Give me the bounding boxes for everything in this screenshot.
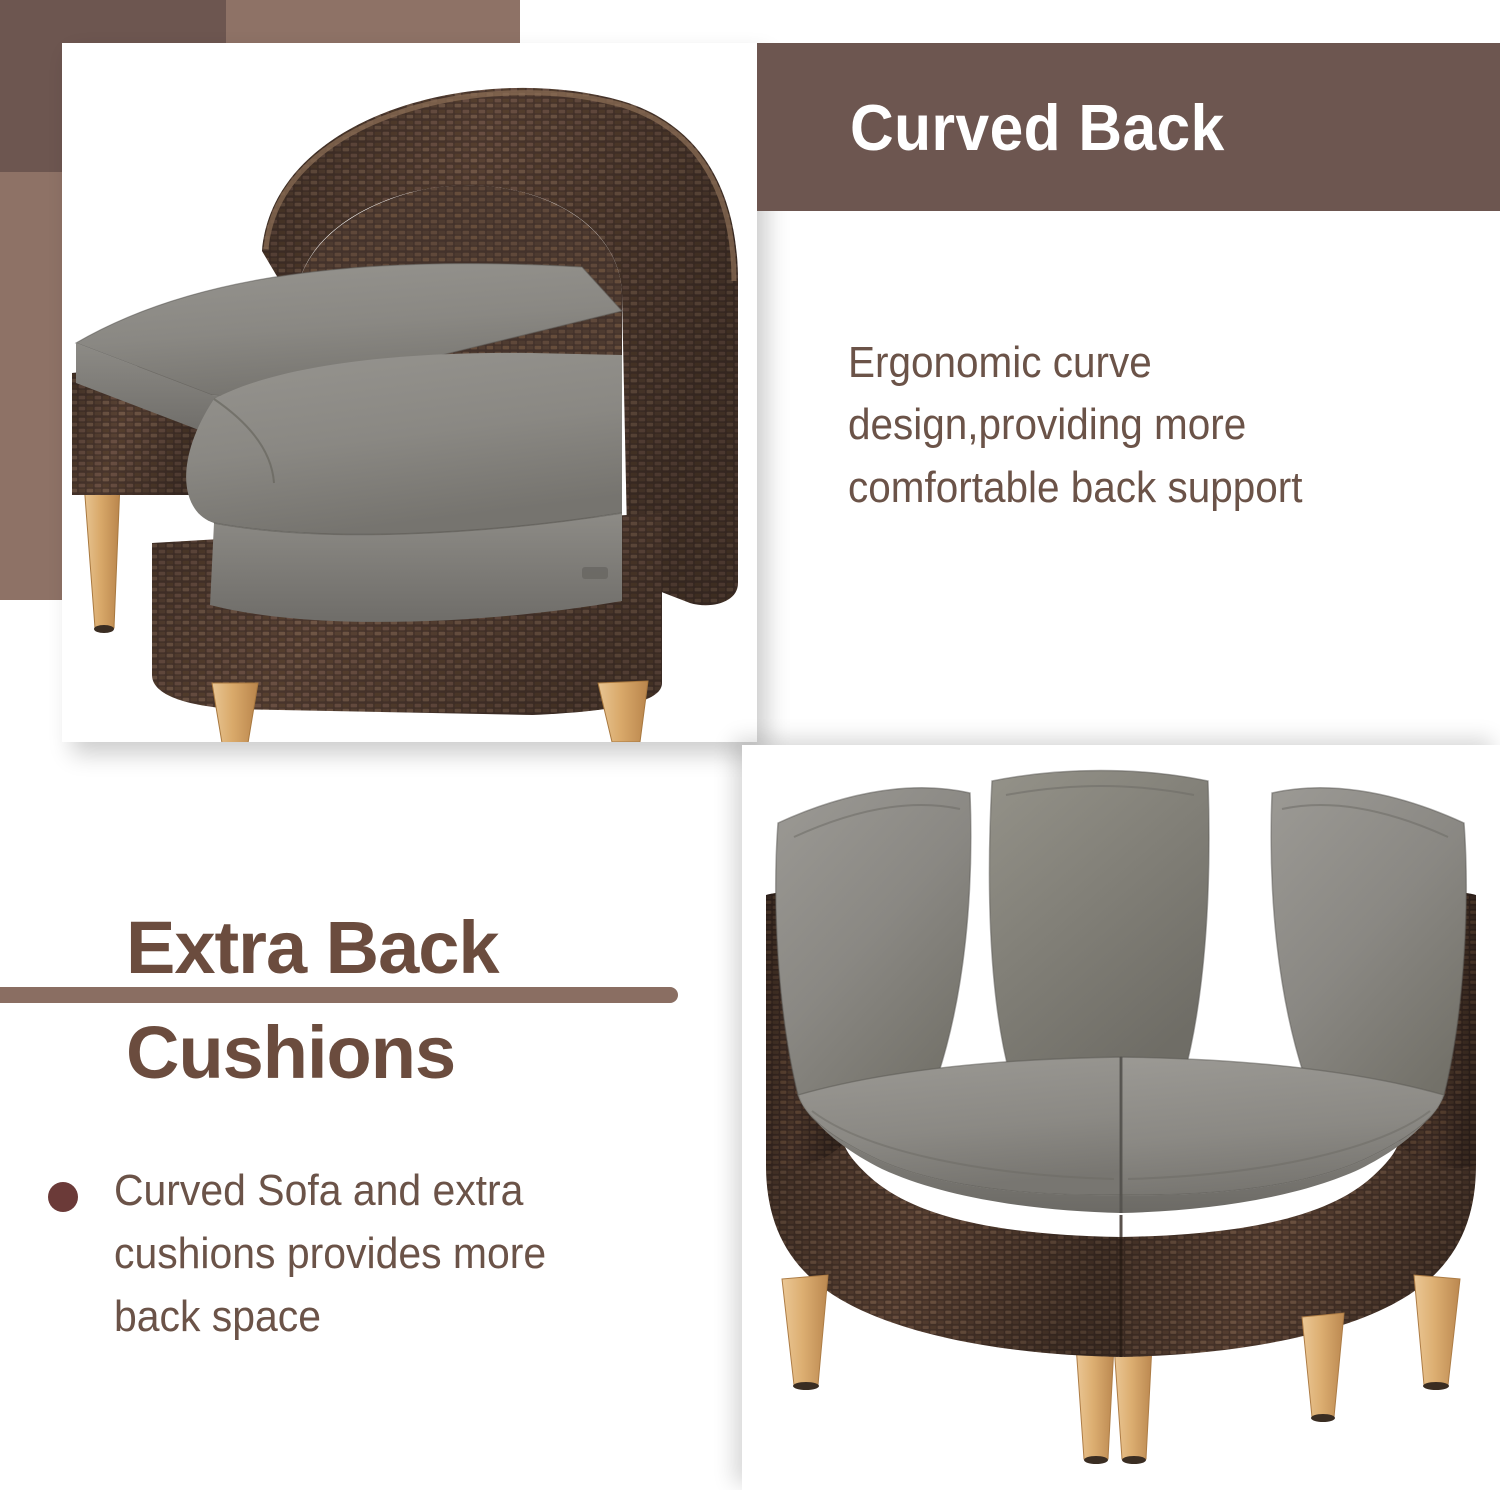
extra-back-heading-line-1: Extra Back — [126, 905, 499, 990]
curved-sectional-sofa-illustration — [742, 745, 1500, 1490]
cushions-bullet-item: Curved Sofa and extra cushions provides … — [48, 1160, 698, 1349]
description-line-1: Ergonomic curve — [848, 332, 1418, 394]
curved-back-chair-photo-card — [62, 43, 757, 742]
bullet-line-2: cushions provides more — [114, 1223, 546, 1286]
curved-sofa-photo-card — [742, 745, 1500, 1490]
curved-back-description: Ergonomic curve design,providing more co… — [848, 332, 1418, 519]
infographic-page: Curved Back Ergonomic curve design,provi… — [0, 0, 1500, 1490]
description-line-2: design,providing more — [848, 394, 1418, 456]
bullet-line-3: back space — [114, 1286, 546, 1349]
decorative-strip-left — [0, 172, 62, 600]
banner-title: Curved Back — [850, 90, 1225, 165]
cushions-bullet-text: Curved Sofa and extra cushions provides … — [114, 1160, 546, 1349]
bullet-dot-icon — [48, 1182, 78, 1212]
curved-back-chair-illustration — [62, 43, 757, 742]
description-line-3: comfortable back support — [848, 457, 1418, 519]
heading-divider-rule — [0, 987, 678, 1003]
curved-back-banner: Curved Back — [757, 43, 1500, 211]
extra-back-heading-line-2: Cushions — [126, 1010, 455, 1095]
bullet-line-1: Curved Sofa and extra — [114, 1160, 546, 1223]
